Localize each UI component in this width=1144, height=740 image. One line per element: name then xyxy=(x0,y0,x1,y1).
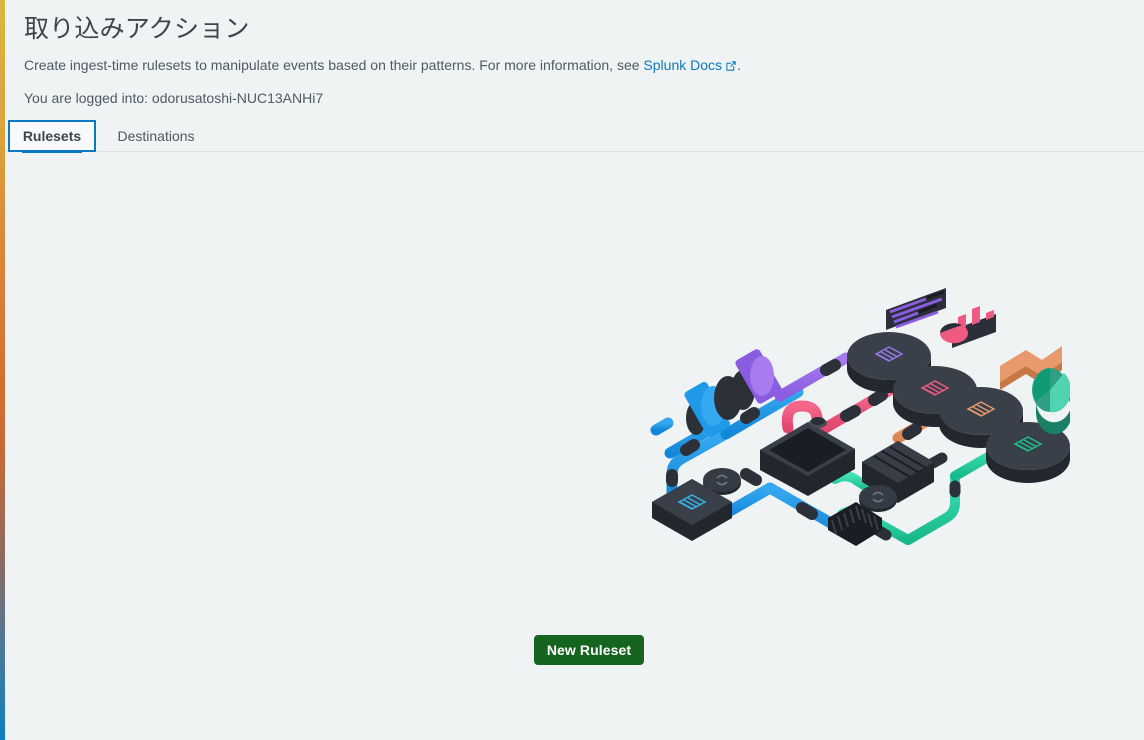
new-ruleset-button[interactable]: New Ruleset xyxy=(534,635,644,665)
page-header: 取り込みアクション Create ingest-time rulesets to… xyxy=(0,0,1144,108)
tab-destinations[interactable]: Destinations xyxy=(108,120,204,152)
tab-destinations-label: Destinations xyxy=(117,128,194,144)
splunk-docs-link-label: Splunk Docs xyxy=(643,57,722,73)
pipe-purple xyxy=(780,358,846,396)
tab-rulesets-label: Rulesets xyxy=(23,128,81,144)
tab-bar: Rulesets Destinations xyxy=(0,120,1144,152)
junction-valve-right xyxy=(859,485,897,512)
splunk-docs-link[interactable]: Splunk Docs xyxy=(643,57,737,73)
chart-purple-bars xyxy=(886,288,946,330)
isometric-data-pipeline-illustration xyxy=(650,278,1070,553)
logged-in-status: You are logged into: odorusatoshi-NUC13A… xyxy=(24,77,1144,108)
external-link-icon xyxy=(725,57,737,77)
page-description: Create ingest-time rulesets to manipulat… xyxy=(24,46,1144,77)
left-accent-strip xyxy=(0,0,5,740)
chart-pink-bars xyxy=(940,306,996,348)
main-content: New Ruleset xyxy=(5,153,1144,740)
page-description-text-before-link: Create ingest-time rulesets to manipulat… xyxy=(24,57,643,73)
cta-area: New Ruleset xyxy=(5,635,1144,665)
pipe-pink xyxy=(787,390,890,430)
app-root: 取り込みアクション Create ingest-time rulesets to… xyxy=(0,0,1144,740)
page-description-text-after-link: . xyxy=(737,57,741,73)
tab-rulesets[interactable]: Rulesets xyxy=(8,120,96,152)
page-title: 取り込みアクション xyxy=(24,0,1144,46)
